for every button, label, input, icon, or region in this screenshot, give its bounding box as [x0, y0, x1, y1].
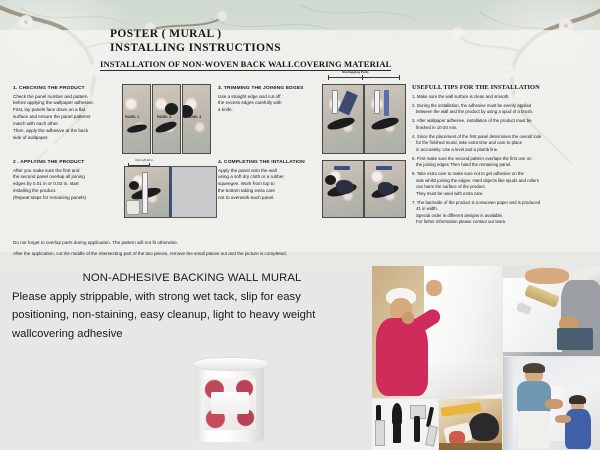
tip-item: 5. First make sure the second pattern ov… [412, 156, 592, 169]
panel-3-label: PANEL 3 [187, 115, 201, 119]
step-1-line: Check the panel number and pattern [13, 94, 117, 101]
description-text-block: NON-ADHESIVE BACKING WALL MURAL Please a… [12, 265, 372, 343]
poster-title-line1: POSTER ( MURAL ) [110, 28, 281, 40]
step-4-illustration [322, 160, 408, 218]
photo-worktable-tools [439, 399, 502, 450]
step-1-line: surface and ensure the panel patterns [13, 114, 117, 121]
cutting-knife-icon-2 [384, 90, 389, 116]
squeegee-icon [334, 166, 350, 170]
step-2-line: installing the product. [13, 188, 117, 195]
tip-line: in accurately. Use a level and a plumb l… [412, 147, 592, 154]
step-2-line: (Repeat steps for remaining panels) [13, 195, 117, 202]
step-3-body: Use a straight edge and cut off the exce… [218, 94, 318, 115]
overlapping-parts-label: Overlapping Parts [342, 70, 369, 74]
tip-line: finished in 10-20 min. [412, 125, 592, 132]
step-4-line: not to overwork each panel. [218, 195, 318, 202]
tip-line: They must be used with extra care. [412, 191, 592, 198]
man-blue-shirt [517, 381, 551, 413]
step-3-illustration: Overlapping Parts [322, 78, 408, 154]
photo-roller-application [503, 266, 600, 356]
tip-item: 6. Take extra care to make sure not to g… [412, 171, 592, 197]
panel-2-label: PANEL 2 [157, 115, 171, 119]
installation-photo-montage [372, 266, 600, 450]
step-4-line: the bottom taking extra care [218, 188, 318, 195]
step-2-line: After you make sure the first and [13, 168, 117, 175]
step-1-line: First, lay panels face down on a flat [13, 107, 117, 114]
bucket-label [204, 378, 256, 430]
useful-tips-section: USEFULL TIPS FOR THE INSTALLATION 1. Mak… [412, 84, 592, 228]
step-4-line: using a soft dry cloth or a rubber [218, 174, 318, 181]
step-3-heading: 3. TRIMMING THE JOINING EDGES [218, 86, 318, 91]
squeegee-icon-2 [376, 166, 392, 170]
product-heading: NON-ADHESIVE BACKING WALL MURAL [12, 265, 372, 284]
product-description: Please apply strippable, with strong wet… [12, 288, 372, 343]
tip-item: 7. The backside of the product is nonwov… [412, 200, 592, 226]
step-2-line: the second panel overlap all joining [13, 174, 117, 181]
step-1-line: Then, apply the adhesive at the back [13, 128, 117, 135]
step-3-block: 3. TRIMMING THE JOINING EDGES Use a stra… [218, 86, 318, 114]
mural-panel-3: PANEL 3 [182, 84, 211, 154]
hand-icon-2 [378, 182, 394, 195]
poster-title-line2: INSTALLING INSTRUCTIONS [110, 42, 281, 54]
description-line: wallcovering adhesive [12, 325, 372, 343]
tip-item: 2. During the installation, the adhesive… [412, 103, 592, 116]
photo-woman-applying-wallpaper [372, 266, 502, 398]
step-4-body: Apply the panel onto the wall using a so… [218, 168, 318, 203]
straight-edge-right [374, 90, 380, 114]
hand-icon [336, 180, 354, 194]
footer-note-2: After the application, cut the middle of… [13, 251, 287, 256]
mural-panel-2: PANEL 2 [152, 84, 181, 154]
tip-item: 3. After wallpaper adhesive, installatio… [412, 118, 592, 131]
bucket-lid [192, 357, 270, 371]
tip-line: between the wall and the product by usin… [412, 109, 592, 116]
footer-note-1: Do not forget to overlap parts during ap… [13, 240, 178, 245]
tip-line: the joining edges Then hand the remainin… [412, 162, 592, 169]
tip-line: 1. Make sure the wall surface is clean a… [412, 94, 592, 101]
tip-item: 4. Since the placement of the first pane… [412, 134, 592, 154]
step-2-illustration [124, 166, 214, 218]
step-3-line: a knife. [218, 107, 318, 114]
step-4-heading: 4. COMPLETING THE INTALLATION [218, 160, 318, 165]
adhesive-bucket-photo [196, 362, 264, 442]
step-2-body: After you make sure the first and the se… [13, 168, 117, 203]
description-line: Please apply strippable, with strong wet… [12, 288, 372, 306]
description-line: positioning, non-staining, easy cleanup,… [12, 306, 372, 324]
tips-heading: USEFULL TIPS FOR THE INSTALLATION [412, 84, 592, 91]
measure-label: 0.01 in/0.02 in [124, 158, 164, 162]
photo-man-and-boy [503, 357, 600, 450]
step-2-line: edges by 0.01 in or 0.02 in. start [13, 181, 117, 188]
step-1-line: before applying the wallpaper adhesive. [13, 100, 117, 107]
step-2-heading: 2 . APPLYING THE PRODUCT [13, 160, 117, 165]
step-1-line: side of wallpaper. [13, 135, 117, 142]
tip-line: For futher information please contact ou… [412, 219, 592, 226]
tip-item: 1. Make sure the wall surface is clean a… [412, 94, 592, 101]
step-1-block: 1. CHECKING THE PRODUCT Check the panel … [13, 86, 117, 142]
straight-edge-tool [142, 172, 148, 214]
step-3-line: Use a straight edge and cut off [218, 94, 318, 101]
paste-bucket-icon [126, 200, 140, 215]
step-4-block: 4. COMPLETING THE INTALLATION Apply the … [218, 160, 318, 202]
step-1-illustration: PANEL 1 PANEL 2 PANEL 3 [122, 84, 212, 154]
step-1-heading: 1. CHECKING THE PRODUCT [13, 86, 117, 91]
step-1-body: Check the panel number and pattern befor… [13, 94, 117, 143]
bucket-dark-icon [469, 413, 499, 441]
step-3-line: the excess edges carefully with [218, 100, 318, 107]
poster-title-group: POSTER ( MURAL ) INSTALLING INSTRUCTIONS [110, 28, 281, 54]
step-4-line: Apply the panel onto the wall [218, 168, 318, 175]
panel-1-label: PANEL 1 [125, 115, 139, 119]
step-2-block: 2 . APPLYING THE PRODUCT After you make … [13, 160, 117, 202]
poster-instruction-sheet: POSTER ( MURAL ) INSTALLING INSTRUCTIONS… [0, 0, 600, 450]
photo-tool-set [372, 399, 438, 450]
mural-panel-1: PANEL 1 [122, 84, 151, 154]
step-4-line: squeegee. Work from top to [218, 181, 318, 188]
instruction-sheet-panel: POSTER ( MURAL ) INSTALLING INSTRUCTIONS… [0, 0, 600, 265]
step-1-line: match with each other. [13, 121, 117, 128]
wall-surface [170, 166, 217, 218]
